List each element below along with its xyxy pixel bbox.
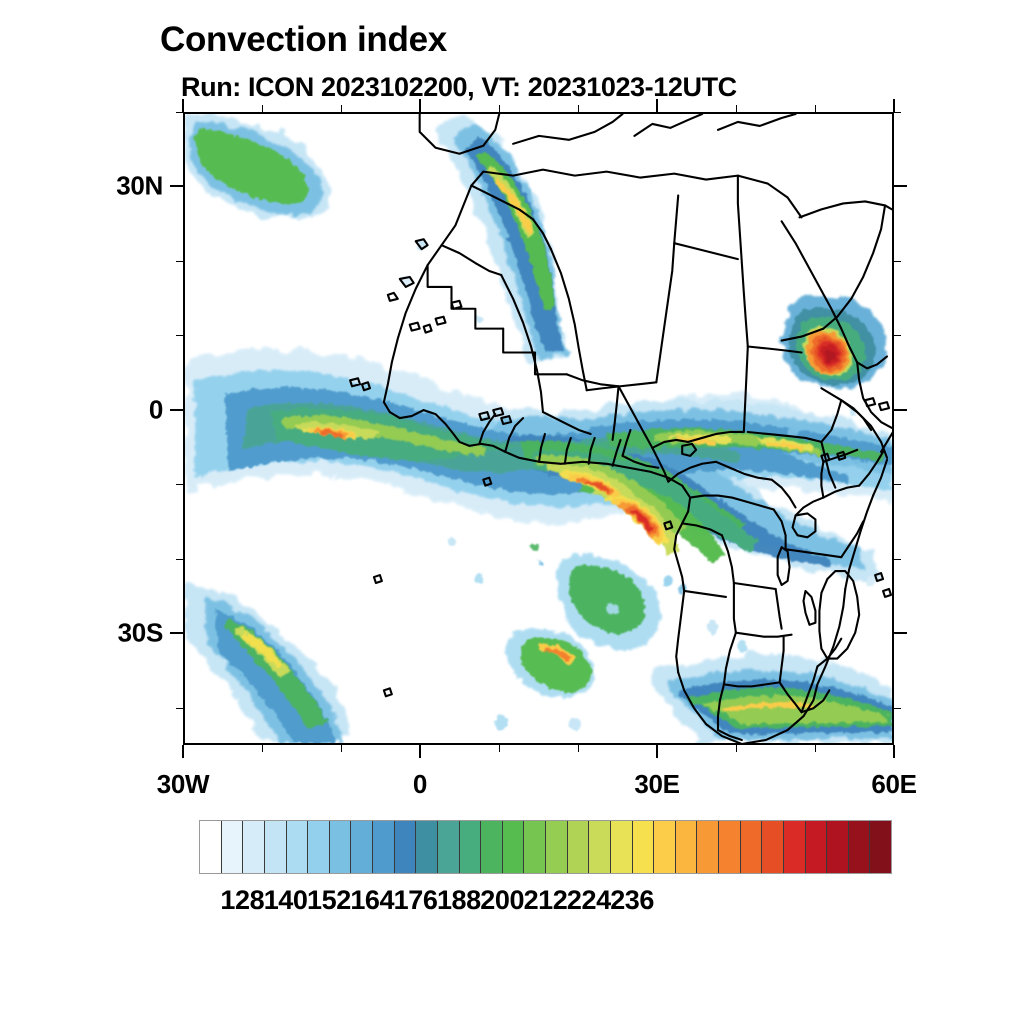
colorbar-cell-24[interactable] bbox=[719, 821, 741, 873]
colorbar-cell-20[interactable] bbox=[633, 821, 655, 873]
x-tick-top-10 bbox=[499, 105, 500, 112]
y-tick-30 bbox=[170, 185, 183, 187]
colorbar-cell-31[interactable] bbox=[870, 821, 891, 873]
colorbar-tick-188: 188 bbox=[437, 885, 481, 916]
colorbar-cell-26[interactable] bbox=[762, 821, 784, 873]
y-tick-right--10 bbox=[894, 484, 901, 485]
y-tick-right-0 bbox=[894, 409, 907, 411]
colorbar-cell-14[interactable] bbox=[503, 821, 525, 873]
colorbar-cell-29[interactable] bbox=[827, 821, 849, 873]
colorbar-tick-236: 236 bbox=[610, 885, 654, 916]
x-tick-50 bbox=[815, 745, 816, 752]
colorbar-cell-21[interactable] bbox=[654, 821, 676, 873]
colorbar-tick-128: 128 bbox=[220, 885, 264, 916]
y-axis-label-30N: 30N bbox=[63, 171, 163, 202]
colorbar-cell-15[interactable] bbox=[524, 821, 546, 873]
x-axis-label-30E: 30E bbox=[634, 769, 679, 800]
page-title: Convection index bbox=[160, 20, 447, 60]
colorbar-cell-19[interactable] bbox=[611, 821, 633, 873]
y-tick-20 bbox=[176, 261, 183, 262]
colorbar-cell-7[interactable] bbox=[351, 821, 373, 873]
x-tick-top-60 bbox=[893, 99, 895, 112]
x-tick-top-20 bbox=[578, 105, 579, 112]
colorbar-cell-30[interactable] bbox=[849, 821, 871, 873]
colorbar-tick-224: 224 bbox=[567, 885, 611, 916]
y-tick-right--40 bbox=[894, 708, 901, 709]
map-plot-area[interactable] bbox=[183, 112, 894, 745]
x-tick-0 bbox=[419, 745, 421, 758]
colorbar-cell-6[interactable] bbox=[330, 821, 352, 873]
y-tick-right--20 bbox=[894, 559, 901, 560]
colorbar-tick-212: 212 bbox=[524, 885, 568, 916]
x-tick-top-50 bbox=[815, 105, 816, 112]
x-axis-label-0: 0 bbox=[413, 769, 427, 800]
y-tick-right--30 bbox=[894, 632, 907, 634]
y-tick-40 bbox=[176, 112, 183, 113]
colorbar-tick-200: 200 bbox=[480, 885, 524, 916]
colorbar-cell-1[interactable] bbox=[222, 821, 244, 873]
y-axis-label-0: 0 bbox=[63, 394, 163, 425]
x-tick-top--20 bbox=[262, 105, 263, 112]
x-tick--20 bbox=[262, 745, 263, 752]
colorbar-cell-8[interactable] bbox=[373, 821, 395, 873]
y-tick-right-40 bbox=[894, 112, 901, 113]
x-tick-60 bbox=[893, 745, 895, 758]
colorbar-cell-4[interactable] bbox=[287, 821, 309, 873]
colorbar-cell-23[interactable] bbox=[697, 821, 719, 873]
x-tick-40 bbox=[736, 745, 737, 752]
colorbar-cell-27[interactable] bbox=[784, 821, 806, 873]
x-tick-10 bbox=[499, 745, 500, 752]
x-tick-20 bbox=[578, 745, 579, 752]
y-tick-right-10 bbox=[894, 335, 901, 336]
x-tick--30 bbox=[182, 745, 184, 758]
map-clip bbox=[185, 114, 892, 743]
colorbar-cell-17[interactable] bbox=[568, 821, 590, 873]
colorbar-cell-13[interactable] bbox=[481, 821, 503, 873]
colorbar-cell-11[interactable] bbox=[438, 821, 460, 873]
colorbar-cell-5[interactable] bbox=[308, 821, 330, 873]
colorbar-cell-9[interactable] bbox=[395, 821, 417, 873]
colorbar-cell-16[interactable] bbox=[546, 821, 568, 873]
colorbar-cell-28[interactable] bbox=[806, 821, 828, 873]
y-tick-10 bbox=[176, 335, 183, 336]
colorbar-tick-176: 176 bbox=[394, 885, 438, 916]
y-tick-0 bbox=[170, 409, 183, 411]
colorbar-tick-152: 152 bbox=[307, 885, 351, 916]
x-tick-top-0 bbox=[419, 99, 421, 112]
colorbar-tick-164: 164 bbox=[350, 885, 394, 916]
x-tick-top--10 bbox=[341, 105, 342, 112]
map-canvas bbox=[185, 114, 892, 743]
colorbar[interactable] bbox=[199, 820, 892, 874]
y-tick--20 bbox=[176, 559, 183, 560]
y-tick-right-30 bbox=[894, 185, 907, 187]
colorbar-cell-22[interactable] bbox=[676, 821, 698, 873]
x-tick-top-30 bbox=[656, 99, 658, 112]
y-tick--30 bbox=[170, 632, 183, 634]
colorbar-cell-2[interactable] bbox=[243, 821, 265, 873]
colorbar-cell-18[interactable] bbox=[589, 821, 611, 873]
colorbar-cell-0[interactable] bbox=[200, 821, 222, 873]
colorbar-cell-3[interactable] bbox=[265, 821, 287, 873]
x-axis-label-30W: 30W bbox=[157, 769, 210, 800]
figure-canvas: Convection index Run: ICON 2023102200, V… bbox=[0, 0, 1024, 1024]
x-tick--10 bbox=[341, 745, 342, 752]
x-tick-30 bbox=[656, 745, 658, 758]
y-tick--10 bbox=[176, 484, 183, 485]
x-axis-label-60E: 60E bbox=[871, 769, 916, 800]
colorbar-tick-140: 140 bbox=[264, 885, 308, 916]
colorbar-cell-25[interactable] bbox=[741, 821, 763, 873]
colorbar-cell-10[interactable] bbox=[416, 821, 438, 873]
x-tick-top-40 bbox=[736, 105, 737, 112]
y-axis-label-30S: 30S bbox=[63, 618, 163, 649]
page-subtitle: Run: ICON 2023102200, VT: 20231023-12UTC bbox=[181, 72, 737, 103]
y-tick-right-20 bbox=[894, 261, 901, 262]
y-tick--40 bbox=[176, 708, 183, 709]
x-tick-top--30 bbox=[182, 99, 184, 112]
colorbar-cell-12[interactable] bbox=[460, 821, 482, 873]
